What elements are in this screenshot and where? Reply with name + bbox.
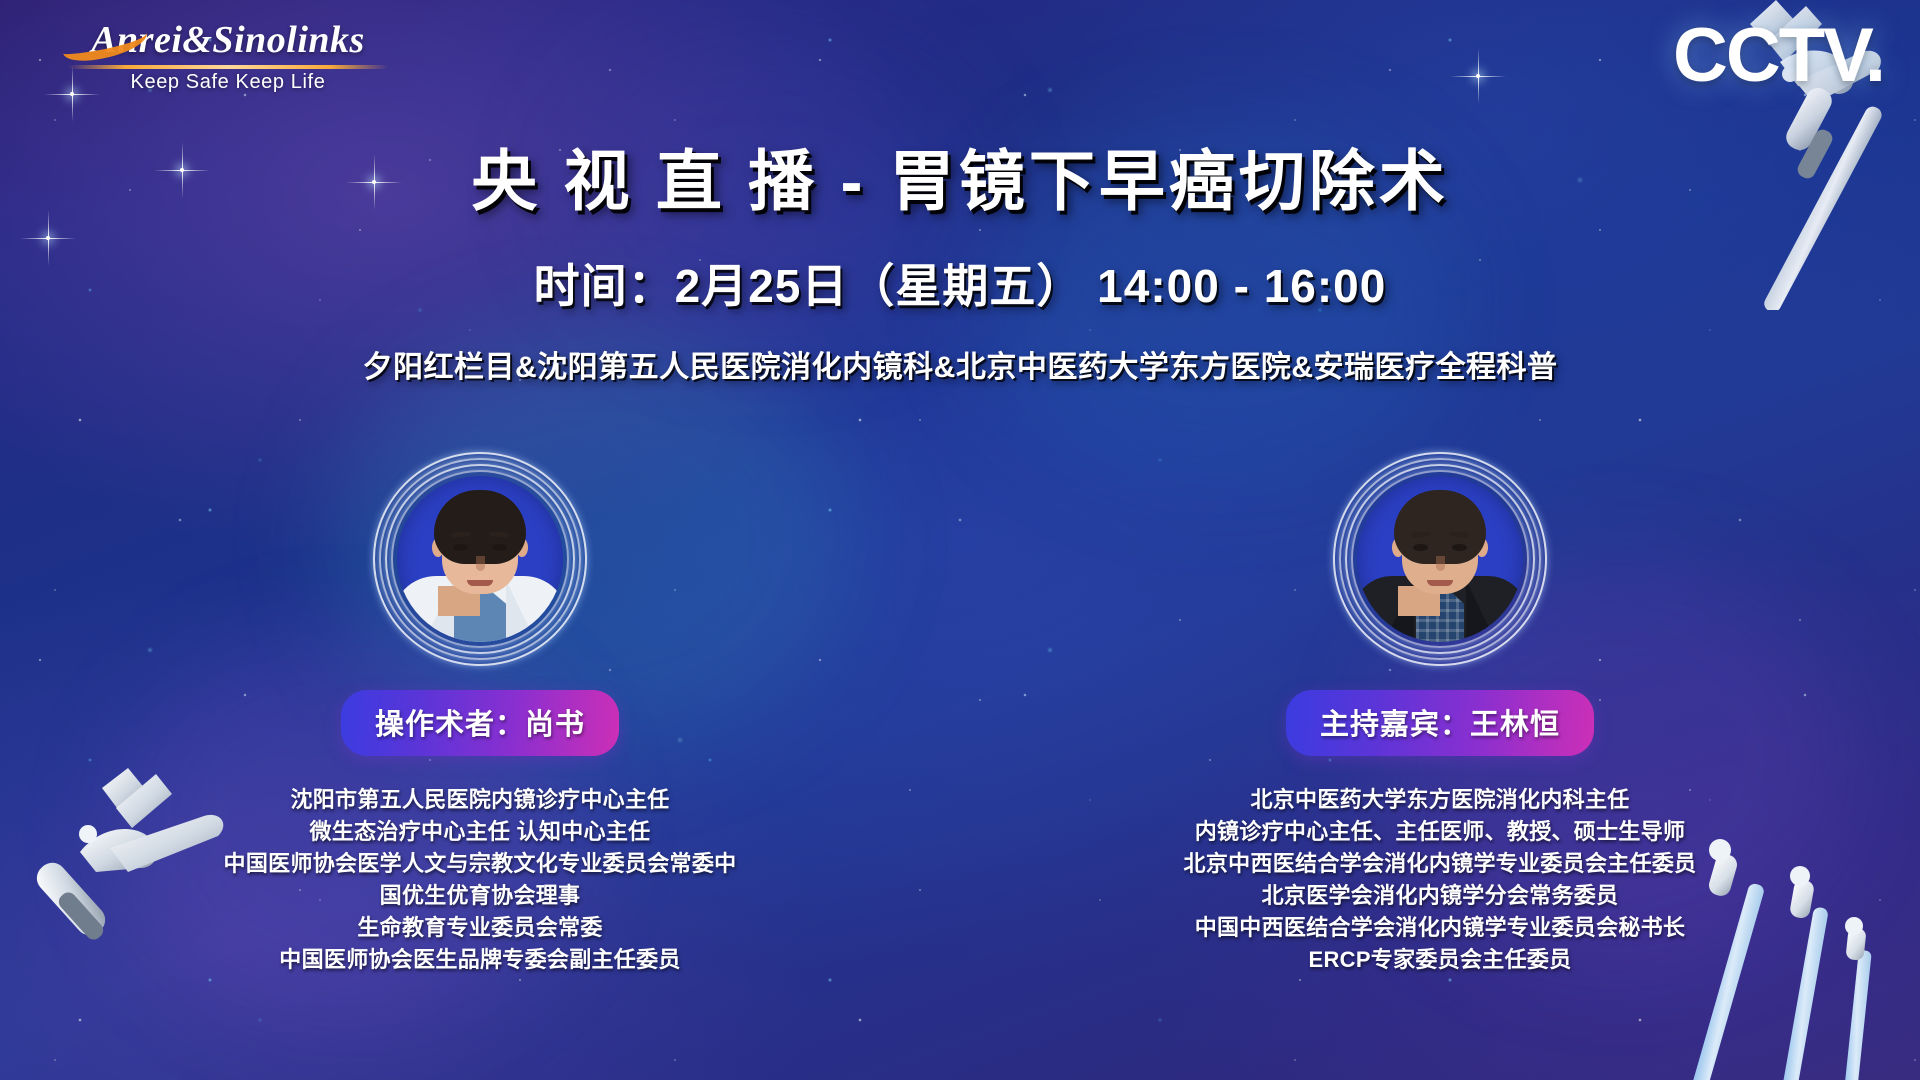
photo-nose — [1436, 556, 1445, 571]
brand-name: Anrei&Sinolinks — [68, 18, 388, 62]
sparkle-icon — [1476, 74, 1480, 78]
photo-eye — [1452, 544, 1467, 551]
list-item: 北京医学会消化内镜学分会常务委员 — [1184, 880, 1697, 912]
list-item: 沈阳市第五人民医院内镜诊疗中心主任 — [224, 784, 737, 816]
title-block: 央 视 直 播 - 胃镜下早癌切除术 时间：2月25日（星期五） 14:00 -… — [0, 128, 1920, 386]
cctv-logo: CCTV. — [1673, 12, 1884, 99]
list-item: 微生态治疗中心主任 认知中心主任 — [224, 816, 737, 848]
list-item: 国优生优育协会理事 — [224, 880, 737, 912]
list-item: 北京中西医结合学会消化内镜学专业委员会主任委员 — [1184, 848, 1697, 880]
list-item: 中国医师协会医学人文与宗教文化专业委员会常委中 — [224, 848, 737, 880]
photo-eye — [1413, 544, 1428, 551]
speaker-card-operator: 操作术者：尚书 沈阳市第五人民医院内镜诊疗中心主任 微生态治疗中心主任 认知中心… — [0, 452, 960, 976]
list-item: 中国中西医结合学会消化内镜学专业委员会秘书长 — [1184, 912, 1697, 944]
list-item: 内镜诊疗中心主任、主任医师、教授、硕士生导师 — [1184, 816, 1697, 848]
brand-divider — [68, 65, 388, 69]
event-poster: Anrei&Sinolinks Keep Safe Keep Life CCTV… — [0, 0, 1920, 1080]
photo-eye — [453, 544, 468, 551]
avatar-photo — [1357, 476, 1523, 642]
event-organizers: 夕阳红栏目&沈阳第五人民医院消化内镜科&北京中医药大学东方医院&安瑞医疗全程科普 — [0, 342, 1920, 386]
brand-logo: Anrei&Sinolinks Keep Safe Keep Life — [68, 18, 388, 94]
photo-hair — [434, 490, 526, 564]
avatar — [373, 452, 587, 666]
speaker-card-host: 主持嘉宾：王林恒 北京中医药大学东方医院消化内科主任 内镜诊疗中心主任、主任医师… — [960, 452, 1920, 976]
status-badge: 操作术者：尚书 — [341, 690, 619, 756]
list-item: 生命教育专业委员会常委 — [224, 912, 737, 944]
photo-mouth — [1427, 580, 1453, 586]
list-item: ERCP专家委员会主任委员 — [1184, 944, 1697, 976]
photo-hair — [1394, 490, 1486, 564]
avatar — [1333, 452, 1547, 666]
event-time: 时间：2月25日（星期五） 14:00 - 16:00 — [0, 250, 1920, 316]
speakers-section: 操作术者：尚书 沈阳市第五人民医院内镜诊疗中心主任 微生态治疗中心主任 认知中心… — [0, 452, 1920, 976]
status-badge: 主持嘉宾：王林恒 — [1286, 690, 1594, 756]
list-item: 北京中医药大学东方医院消化内科主任 — [1184, 784, 1697, 816]
credentials-list: 沈阳市第五人民医院内镜诊疗中心主任 微生态治疗中心主任 认知中心主任 中国医师协… — [224, 784, 737, 976]
page-title: 央 视 直 播 - 胃镜下早癌切除术 — [0, 128, 1920, 224]
credentials-list: 北京中医药大学东方医院消化内科主任 内镜诊疗中心主任、主任医师、教授、硕士生导师… — [1184, 784, 1697, 976]
avatar-photo — [397, 476, 563, 642]
photo-eye — [492, 544, 507, 551]
photo-nose — [476, 556, 485, 571]
photo-mouth — [467, 580, 493, 586]
list-item: 中国医师协会医生品牌专委会副主任委员 — [224, 944, 737, 976]
brand-tagline: Keep Safe Keep Life — [68, 71, 388, 94]
